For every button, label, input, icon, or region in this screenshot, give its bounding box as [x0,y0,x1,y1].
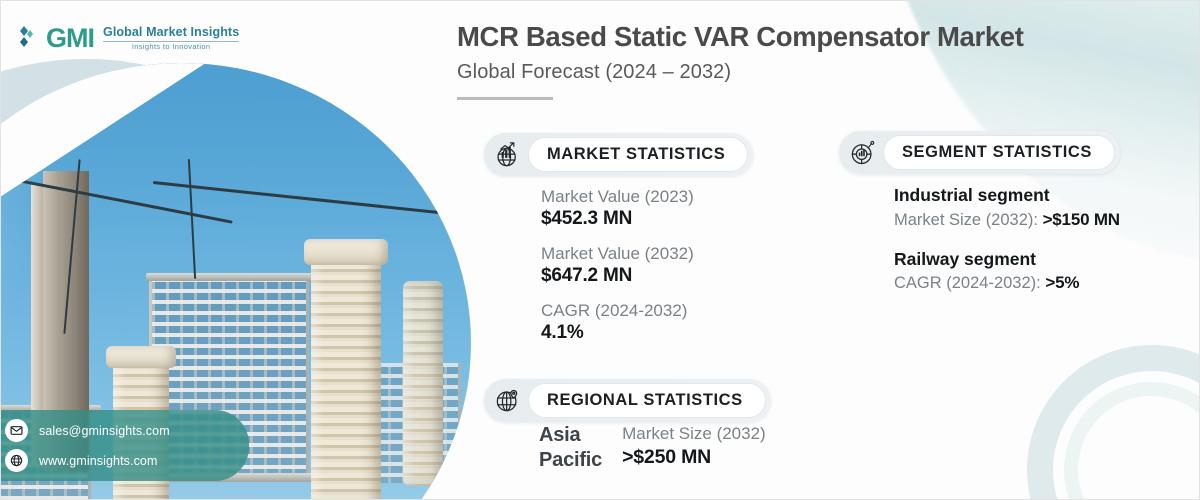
segment-metric-row: CAGR (2024-2032): >5% [894,271,1120,295]
segment-metric-value: >5% [1045,273,1079,292]
segment-stat-item: Industrial segment Market Size (2032): >… [894,184,1120,232]
regional-region-line1: Asia [539,423,602,448]
contact-email: sales@gminsights.com [39,424,170,438]
market-stat-label: Market Value (2032) [541,243,694,264]
contact-website-row[interactable]: www.gminsights.com [5,449,235,472]
regional-metric: Market Size (2032) >$250 MN [622,423,766,471]
regional-region-name: Asia Pacific [539,423,602,473]
globe-pin-icon [491,384,524,417]
segment-name: Railway segment [894,248,1120,272]
market-statistics-list: Market Value (2023) $452.3 MN Market Val… [541,186,694,357]
segment-metric-label: Market Size (2032): [894,211,1038,229]
regional-metric-value: >$250 MN [622,444,766,470]
regional-region-line2: Pacific [539,448,602,473]
market-stat-item: CAGR (2024-2032) 4.1% [541,300,694,346]
brand-logo[interactable]: GMI Global Market Insights Insights to I… [17,23,239,53]
segment-statistics-pill[interactable]: SEGMENT STATISTICS [839,131,1120,174]
market-stat-value: $452.3 MN [541,207,694,232]
regional-statistics-content: Asia Pacific Market Size (2032) >$250 MN [539,423,766,473]
page-title: MCR Based Static VAR Compensator Market [457,21,1157,53]
gmi-diamond-logo-icon [17,23,39,53]
segment-name: Industrial segment [894,184,1120,208]
pie-chart-arrow-icon [846,136,879,169]
regional-statistics-pill[interactable]: REGIONAL STATISTICS [484,379,771,422]
market-stat-item: Market Value (2032) $647.2 MN [541,243,694,289]
segment-stat-item: Railway segment CAGR (2024-2032): >5% [894,248,1120,296]
contact-email-row[interactable]: sales@gminsights.com [5,419,235,442]
segment-statistics-list: Industrial segment Market Size (2032): >… [894,184,1120,311]
regional-statistics-label: REGIONAL STATISTICS [528,383,766,418]
segment-metric-label: CAGR (2024-2032): [894,274,1041,292]
globe-bar-chart-icon [491,138,524,171]
title-underline [457,97,553,100]
logo-initials: GMI [46,25,94,52]
regional-metric-label: Market Size (2032) [622,423,766,444]
segment-metric-value: >$150 MN [1043,210,1120,229]
logo-text-block: Global Market Insights Insights to Innov… [103,25,239,52]
market-stat-label: CAGR (2024-2032) [541,300,694,321]
page-subtitle: Global Forecast (2024 – 2032) [457,61,1157,84]
market-stat-label: Market Value (2023) [541,186,694,207]
decorative-ring-inner [1064,382,1200,500]
logo-company-name: Global Market Insights [103,25,239,39]
market-stat-value: $647.2 MN [541,264,694,289]
segment-metric-row: Market Size (2032): >$150 MN [894,208,1120,232]
infographic-canvas: sales@gminsights.com www.gminsights.com … [0,0,1200,500]
segment-statistics-label: SEGMENT STATISTICS [883,135,1115,170]
market-stat-value: 4.1% [541,321,694,346]
header: MCR Based Static VAR Compensator Market … [457,21,1157,100]
contact-website: www.gminsights.com [39,454,158,468]
market-statistics-label: MARKET STATISTICS [528,137,748,172]
decorative-ring-outer [1027,345,1200,500]
contact-banner: sales@gminsights.com www.gminsights.com [0,410,249,481]
market-stat-item: Market Value (2023) $452.3 MN [541,186,694,232]
market-statistics-pill[interactable]: MARKET STATISTICS [484,133,753,176]
envelope-icon [5,419,28,442]
logo-tagline: Insights to Innovation [103,43,239,51]
globe-icon [5,449,28,472]
